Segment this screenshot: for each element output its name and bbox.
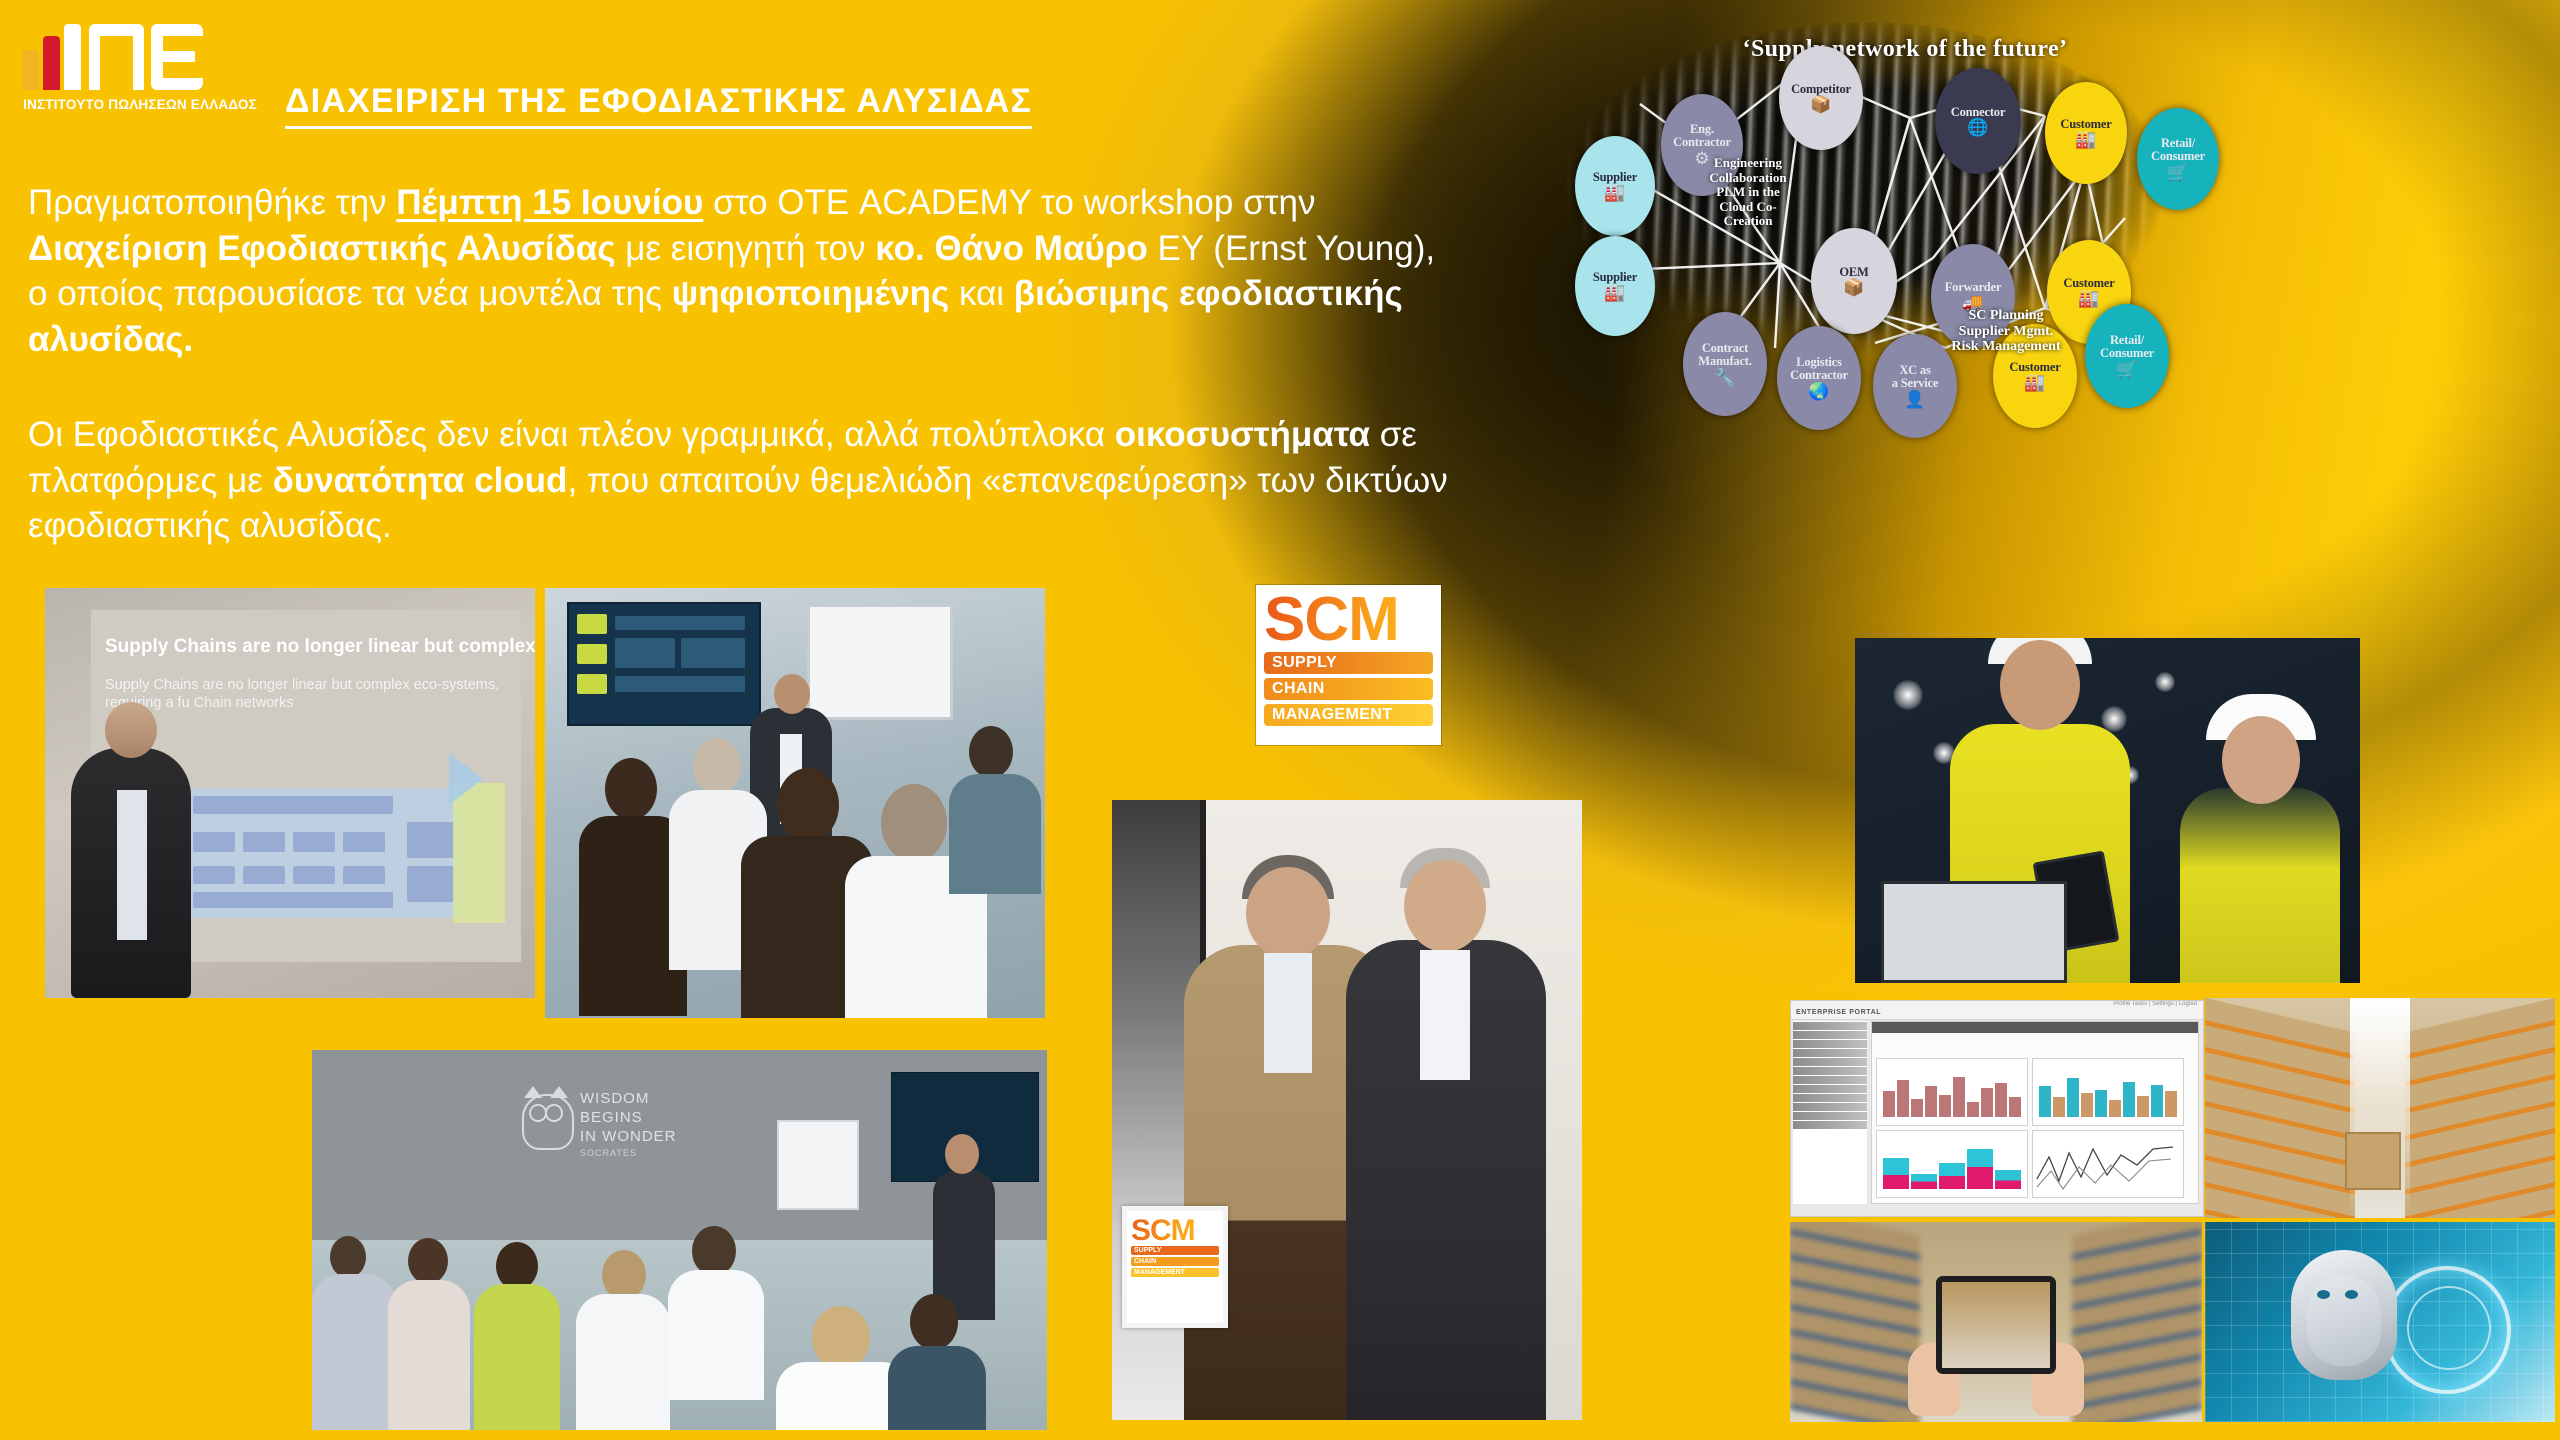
logo-bar-yellow-icon — [22, 50, 39, 90]
p1-seg3: στο ΟΤΕ ACADEMY το workshop στην — [703, 183, 1315, 222]
two-men-award-photo: SCM SUPPLY CHAIN MANAGEMENT — [1112, 800, 1582, 1420]
flipchart — [777, 1120, 859, 1210]
node-supplier-1[interactable]: Supplier 🏭 — [1575, 136, 1655, 236]
page-title: ΔΙΑΧΕΙΡΙΣΗ ΤΗΣ ΕΦΟΔΙΑΣΤΙΚΗΣ ΑΛΥΣΙΔΑΣ — [285, 82, 1032, 129]
room-projection-screen — [891, 1072, 1039, 1182]
attendee-torso — [776, 1362, 912, 1430]
slide-diagram-blocks — [133, 788, 463, 918]
attendee-torso — [668, 1270, 764, 1400]
training-room-photo: WISDOM BEGINS IN WONDER SOCRATES — [312, 1050, 1047, 1430]
pallet-box — [2345, 1132, 2401, 1190]
robot-head — [2291, 1250, 2397, 1380]
attendee-torso — [474, 1284, 560, 1430]
p1-seg8: ψηφιοποιημένης — [672, 274, 949, 313]
ine-logo: ΙΝΣΤΙΤΟΥΤΟ ΠΩΛΗΣΕΩΝ ΕΛΛΑΔΟΣ — [22, 16, 262, 112]
award-frame-bar-supply: SUPPLY — [1131, 1246, 1219, 1255]
audience-photo — [545, 588, 1045, 1018]
room-floor — [312, 1240, 1047, 1430]
attendee-torso — [888, 1346, 986, 1430]
logo-letter-pi-icon — [89, 24, 144, 90]
attendee-head — [496, 1242, 538, 1290]
slide-highlight-panel — [453, 783, 505, 923]
node-logistics-contractor-label: Logistics Contractor — [1790, 356, 1848, 382]
attendee-torso — [949, 774, 1041, 894]
projection-screen — [91, 610, 521, 962]
box-icon: 📦 — [1843, 279, 1864, 296]
attendee-torso — [579, 816, 687, 1016]
worker-left-figure — [1950, 724, 2130, 983]
node-eng-contractor-label: Eng. Contractor — [1673, 123, 1731, 149]
rack-right — [2405, 998, 2555, 1218]
attendee-head — [330, 1236, 366, 1278]
whiteboard — [807, 604, 953, 720]
tablet-ar-warehouse-photo — [1790, 1222, 2202, 1422]
portal-sidebar[interactable] — [1793, 1021, 1867, 1204]
node-customer-top-label: Customer — [2060, 118, 2111, 131]
blurred-rack-left — [1790, 1222, 1920, 1422]
node-customer-bottom-label: Customer — [2009, 361, 2060, 374]
node-connector-label: Connector — [1951, 106, 2005, 119]
hud-inner-ring-icon — [2407, 1286, 2491, 1370]
node-xc-as-a-service-label: XC as a Service — [1892, 364, 1938, 390]
p1-speaker: κο. Θάνο Μαύρο — [875, 229, 1148, 268]
wall-quote-attribution: SOCRATES — [580, 1148, 637, 1158]
supply-network-diagram: ‘Supply network of the future’ Competito… — [1525, 8, 2265, 368]
attendee-torso — [741, 836, 873, 1018]
scm-logo-word: SCM — [1264, 591, 1433, 648]
attendee-head — [969, 726, 1013, 778]
node-supplier-2[interactable]: Supplier 🏭 — [1575, 236, 1655, 336]
chart-card — [2032, 1058, 2184, 1126]
man-left-figure — [1184, 945, 1394, 1420]
tablet-screen[interactable] — [1936, 1276, 2056, 1374]
label-sc-planning: SC Planning Supplier Mgmt. Risk Manageme… — [1911, 308, 2101, 355]
assembly-icon: 🔧 — [1714, 369, 1735, 386]
stacked-bar-chart-icon — [1883, 1145, 2021, 1189]
chart-card — [2032, 1130, 2184, 1198]
portal-header: ENTERPRISE PORTAL Profile Tasks | Settin… — [1791, 1001, 2203, 1020]
owl-icon — [522, 1084, 570, 1146]
person-icon: 👤 — [1904, 391, 1925, 408]
scm-bar-chain: CHAIN — [1264, 678, 1433, 700]
p1-seg9: και — [949, 274, 1014, 313]
node-competitor-label: Competitor — [1791, 83, 1851, 96]
hud-ring-icon — [2383, 1266, 2511, 1394]
attendee-head — [777, 768, 839, 842]
node-connector[interactable]: Connector 🌐 — [1935, 68, 2021, 174]
bar-chart-icon — [1883, 1073, 2021, 1117]
award-frame-bar-chain: CHAIN — [1131, 1257, 1219, 1266]
portal-title: ENTERPRISE PORTAL — [1796, 1009, 1881, 1016]
light-bokeh — [2101, 706, 2127, 732]
node-forwarder-label: Forwarder — [1945, 281, 2002, 294]
factory-icon: 🏭 — [2024, 374, 2045, 391]
attendee-head — [910, 1294, 958, 1350]
projection-panel — [567, 602, 761, 726]
warehouse-workers-photo — [1855, 638, 2360, 983]
cart-icon: 🛒 — [2167, 164, 2188, 181]
ine-logo-mark — [22, 16, 262, 90]
node-logistics-contractor[interactable]: Logistics Contractor 🌏 — [1777, 326, 1861, 430]
enterprise-portal-dashboard-photo: ENTERPRISE PORTAL Profile Tasks | Settin… — [1790, 1000, 2204, 1217]
warehouse-aisle-photo — [2205, 998, 2555, 1218]
p2-cloud: δυνατότητα cloud — [273, 461, 568, 500]
attendee-head — [605, 758, 657, 820]
node-competitor[interactable]: Competitor 📦 — [1779, 46, 1863, 150]
light-bokeh — [1933, 742, 1955, 764]
line-chart-icon — [2033, 1131, 2183, 1197]
intro-paragraph: Πραγματοποιηθήκε την Πέμπτη 15 Ιουνίου σ… — [28, 180, 1458, 362]
p2-ecosystems: οικοσυστήματα — [1115, 415, 1370, 454]
attendee-head — [692, 1226, 736, 1276]
blurred-rack-right — [2072, 1222, 2202, 1422]
body-paragraph: Οι Εφοδιαστικές Αλυσίδες δεν είναι πλέον… — [28, 412, 1458, 549]
node-customer-top[interactable]: Customer 🏭 — [2045, 82, 2127, 184]
node-oem-label: OEM — [1839, 266, 1868, 279]
wall-quote-text: WISDOM BEGINS IN WONDER — [580, 1090, 677, 1146]
ine-logo-subtitle: ΙΝΣΤΙΤΟΥΤΟ ΠΩΛΗΣΕΩΝ ΕΛΛΑΔΟΣ — [22, 97, 258, 112]
light-bokeh — [1893, 680, 1923, 710]
globe-box-icon: 🌏 — [1808, 383, 1829, 400]
factory-icon: 🏭 — [2078, 290, 2099, 307]
node-supplier-1-label: Supplier — [1593, 171, 1637, 184]
attendee-head — [408, 1238, 448, 1284]
node-contract-manufact-label: Contract Manufact. — [1698, 342, 1751, 368]
p1-date: Πέμπτη 15 Ιουνίου — [396, 183, 703, 222]
node-retail-consumer-top-label: Retail/ Consumer — [2151, 137, 2205, 163]
rack-left — [2205, 998, 2355, 1218]
laptop-device — [1881, 881, 2067, 983]
cart-people-icon: 🛒 — [2116, 361, 2137, 378]
attendee-torso — [388, 1280, 470, 1430]
award-frame-word: SCM — [1127, 1211, 1223, 1244]
light-bokeh — [2155, 672, 2175, 692]
globe-icon: 🌐 — [1967, 119, 1988, 136]
scm-award-frame: SCM SUPPLY CHAIN MANAGEMENT — [1122, 1206, 1228, 1328]
logo-bar-red-icon — [43, 36, 60, 90]
node-supplier-2-label: Supplier — [1593, 271, 1637, 284]
presenter-figure — [750, 708, 832, 858]
scm-bar-management: MANAGEMENT — [1264, 704, 1433, 726]
room-wall — [312, 1050, 1047, 1240]
chart-card — [1876, 1130, 2028, 1198]
plant-icon: 🏭 — [1604, 184, 1625, 201]
node-retail-consumer-top[interactable]: Retail/ Consumer 🛒 — [2137, 108, 2219, 210]
slide-arrow-icon — [449, 753, 483, 805]
tablet-device — [2033, 850, 2120, 953]
scm-logo: SCM SUPPLY CHAIN MANAGEMENT — [1256, 585, 1441, 745]
room-presenter-head — [945, 1134, 979, 1174]
plant-icon: 🏭 — [1604, 284, 1625, 301]
award-frame-bar-management: MANAGEMENT — [1131, 1268, 1219, 1277]
tech-grid-overlay — [2205, 1222, 2555, 1422]
node-retail-consumer-bottom-label: Retail/ Consumer — [2100, 334, 2154, 360]
p1-seg5: με εισηγητή τον — [616, 229, 876, 268]
bar-chart-icon — [2039, 1073, 2177, 1117]
light-bokeh — [2121, 766, 2139, 784]
slide-title-text: Supply Chains are no longer linear but c… — [105, 636, 535, 658]
scm-bar-supply: SUPPLY — [1264, 652, 1433, 674]
label-engineering-collaboration: Engineering Collaboration PLM in the Clo… — [1693, 156, 1803, 229]
attendee-torso — [576, 1294, 670, 1430]
attendee-head — [693, 738, 741, 794]
network-diagram-title: ‘Supply network of the future’ — [1695, 36, 2115, 63]
node-customer-mid-label: Customer — [2063, 277, 2114, 290]
attendee-head — [602, 1250, 646, 1300]
portal-content — [1871, 1021, 2199, 1204]
aisle-lighting — [2350, 998, 2410, 1218]
projector-slide-photo: Supply Chains are no longer linear but c… — [45, 588, 535, 998]
man-right-figure — [1346, 940, 1546, 1420]
attendee-torso — [669, 790, 767, 970]
chart-card — [1876, 1058, 2028, 1126]
attendee-torso — [845, 856, 987, 1018]
attendee-head — [812, 1306, 870, 1370]
worker-right-figure — [2180, 788, 2340, 983]
slide-body-text: Supply Chains are no longer linear but c… — [105, 676, 525, 712]
portal-menu: Profile Tasks | Settings | Logout — [2113, 1001, 2197, 1007]
speaker-figure — [71, 748, 191, 998]
p1-topic: Διαχείριση Εφοδιαστικής Αλυσίδας — [28, 229, 616, 268]
node-contract-manufact[interactable]: Contract Manufact. 🔧 — [1683, 312, 1767, 416]
p2-seg1: Οι Εφοδιαστικές Αλυσίδες δεν είναι πλέον… — [28, 415, 1115, 454]
factory-icon: 🏭 — [2075, 131, 2096, 148]
logo-bar-white-icon — [64, 24, 81, 90]
slide-canvas: ΙΝΣΤΙΤΟΥΤΟ ΠΩΛΗΣΕΩΝ ΕΛΛΑΔΟΣ ΔΙΑΧΕΙΡΙΣΗ Τ… — [0, 0, 2560, 1440]
p1-seg1: Πραγματοποιηθήκε την — [28, 183, 396, 222]
portal-content-titlebar — [1872, 1022, 2198, 1033]
node-oem[interactable]: OEM 📦 — [1811, 228, 1897, 334]
logo-letter-epsilon-icon — [151, 24, 203, 90]
ai-robot-photo — [2205, 1222, 2555, 1422]
room-presenter — [933, 1170, 995, 1320]
attendee-torso — [312, 1274, 396, 1430]
box-icon: 📦 — [1810, 96, 1831, 113]
attendee-head — [881, 784, 947, 862]
